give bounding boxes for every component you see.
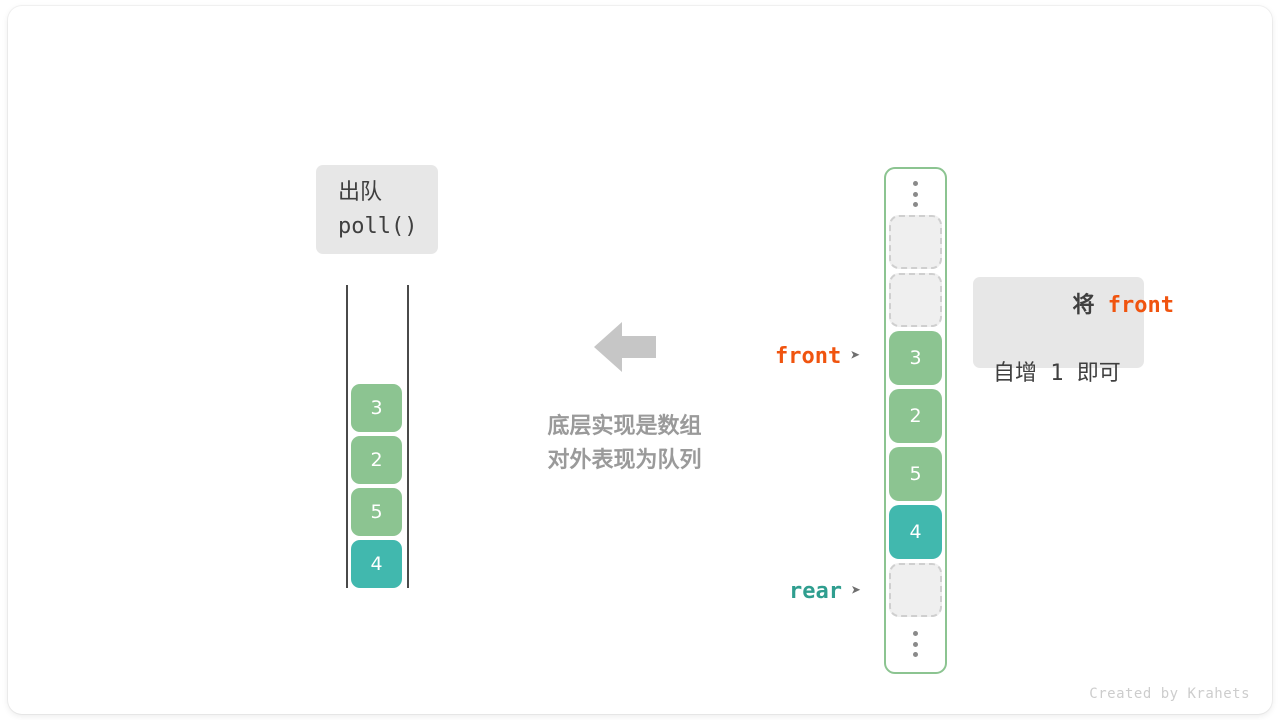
poll-label-line2: poll() (338, 210, 417, 244)
ellipsis-dot (913, 202, 918, 207)
center-caption: 底层实现是数组 对外表现为队列 (497, 410, 752, 478)
ellipsis-dot (913, 652, 918, 657)
ellipsis-dot (913, 631, 918, 636)
logical-queue-view: 3254 (340, 280, 420, 595)
vertical-ellipsis-icon-top (913, 181, 918, 207)
array-cell: 5 (889, 447, 942, 501)
front-pointer-marker-icon: ➤ (850, 348, 860, 365)
underlying-array-view: 3254 (884, 167, 947, 674)
credit-text: Created by Krahets (1089, 686, 1250, 702)
front-note-box: 将 front 自增 1 即可 (973, 277, 1144, 368)
queue-cell: 2 (351, 436, 402, 484)
poll-label-box: 出队 poll() (316, 165, 438, 254)
queue-rail-right (407, 285, 409, 588)
array-cell-empty (889, 563, 942, 617)
center-caption-line1: 底层实现是数组 (497, 410, 752, 444)
queue-cell: 5 (351, 488, 402, 536)
front-pointer-text: front (775, 344, 841, 369)
left-arrow-icon (594, 320, 656, 374)
front-pointer-label: front ➤ (775, 344, 860, 369)
poll-label-line1: 出队 (338, 176, 382, 210)
vertical-ellipsis-icon-bottom (913, 631, 918, 657)
front-note-accent: front (1108, 293, 1174, 318)
front-note-prefix: 将 (1072, 293, 1107, 318)
diagram-canvas: 出队 poll() 3254 底层实现是数组 对外表现为队列 front ➤ r… (0, 0, 1280, 720)
ellipsis-dot (913, 192, 918, 197)
queue-cell: 3 (351, 384, 402, 432)
array-cell-empty (889, 215, 942, 269)
queue-cell: 4 (351, 540, 402, 588)
array-cell-empty (889, 273, 942, 327)
array-cell-list: 3254 (889, 215, 942, 621)
ellipsis-dot (913, 181, 918, 186)
rear-pointer-label: rear ➤ (789, 579, 861, 604)
front-note-line1: 将 front (993, 255, 1174, 357)
ellipsis-dot (913, 642, 918, 647)
rear-pointer-text: rear (789, 579, 842, 604)
array-cell: 4 (889, 505, 942, 559)
queue-cell-list: 3254 (351, 384, 402, 588)
center-caption-line2: 对外表现为队列 (497, 444, 752, 478)
array-cell: 3 (889, 331, 942, 385)
queue-rail-left (346, 285, 348, 588)
array-cell: 2 (889, 389, 942, 443)
rear-pointer-marker-icon: ➤ (851, 583, 861, 600)
front-note-line2: 自增 1 即可 (993, 357, 1121, 391)
